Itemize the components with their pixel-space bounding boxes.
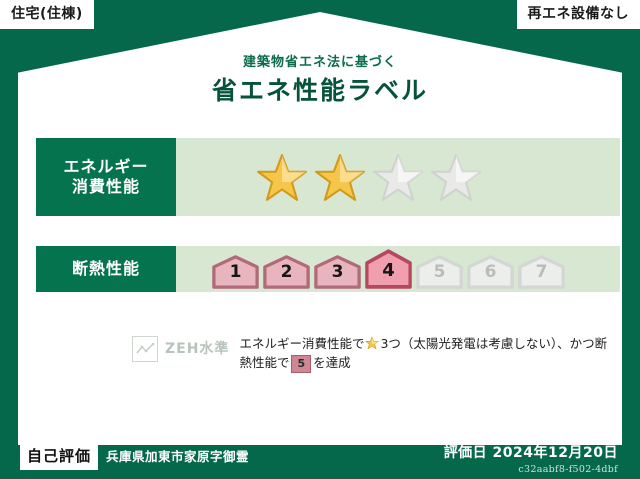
insulation-grade-7: 7 bbox=[518, 255, 565, 289]
insulation-grade-value: 3 bbox=[332, 264, 344, 289]
zeh-mark-label: ZEH水準 bbox=[165, 342, 229, 356]
energy-performance-row: エネルギー 消費性能 bbox=[36, 138, 620, 216]
label-title-block: 建築物省エネ法に基づく 省エネ性能ラベル bbox=[0, 56, 640, 103]
zeh-grade-chip: 5 bbox=[291, 355, 311, 373]
zeh-mark: ZEH水準 bbox=[36, 333, 229, 362]
star-filled-icon bbox=[256, 152, 308, 202]
energy-performance-label: エネルギー 消費性能 bbox=[36, 138, 176, 216]
footer-left-group: 自己評価 兵庫県加東市家原字御霊 bbox=[20, 444, 249, 470]
insulation-grade-scale: 1234567 bbox=[176, 249, 565, 289]
insulation-grade-value: 5 bbox=[434, 264, 446, 289]
energy-rating-body bbox=[176, 138, 620, 216]
insulation-label-text: 断熱性能 bbox=[72, 259, 140, 279]
title-subtitle: 建築物省エネ法に基づく bbox=[0, 56, 640, 69]
star-empty-icon bbox=[372, 152, 424, 202]
footer-right-group: 評価日 2024年12月20日 c32aabf8-f502-4dbf bbox=[444, 446, 618, 475]
insulation-grade-value: 2 bbox=[281, 264, 293, 289]
insulation-grade-6: 6 bbox=[467, 255, 514, 289]
insulation-grade-2: 2 bbox=[263, 255, 310, 289]
zeh-description: エネルギー消費性能で3つ（太陽光発電は考慮しない）、かつ断熱性能で5を達成 bbox=[239, 333, 616, 373]
building-type-tag: 住宅(住棟) bbox=[0, 0, 94, 29]
insulation-grade-value: 4 bbox=[382, 262, 395, 289]
star-rating bbox=[176, 152, 482, 202]
insulation-grade-1: 1 bbox=[212, 255, 259, 289]
zeh-standard-note: ZEH水準 エネルギー消費性能で3つ（太陽光発電は考慮しない）、かつ断熱性能で5… bbox=[36, 333, 616, 373]
insulation-grade-value: 6 bbox=[485, 264, 497, 289]
insulation-grade-value: 1 bbox=[230, 264, 242, 289]
insulation-grade-value: 7 bbox=[536, 264, 548, 289]
insulation-performance-row: 断熱性能 1234567 bbox=[36, 246, 620, 292]
inline-star-icon bbox=[365, 336, 379, 349]
page-title: 省エネ性能ラベル bbox=[0, 78, 640, 103]
star-filled-icon bbox=[314, 152, 366, 202]
zeh-desc-line2-b: を達成 bbox=[313, 355, 351, 370]
insulation-grade-5: 5 bbox=[416, 255, 463, 289]
label-footer: 自己評価 兵庫県加東市家原字御霊 評価日 2024年12月20日 c32aabf… bbox=[0, 435, 640, 479]
energy-label-line2: 消費性能 bbox=[72, 177, 140, 197]
property-address: 兵庫県加東市家原字御霊 bbox=[106, 451, 249, 464]
zeh-house-icon bbox=[132, 336, 158, 362]
insulation-grade-4: 4 bbox=[365, 249, 412, 289]
insulation-rating-body: 1234567 bbox=[176, 246, 620, 292]
document-id: c32aabf8-f502-4dbf bbox=[444, 465, 618, 475]
insulation-grade-3: 3 bbox=[314, 255, 361, 289]
energy-label-line1: エネルギー bbox=[63, 157, 148, 177]
self-evaluation-badge: 自己評価 bbox=[20, 444, 98, 470]
evaluation-date: 評価日 2024年12月20日 bbox=[444, 446, 618, 460]
star-empty-icon bbox=[430, 152, 482, 202]
energy-performance-label: 住宅(住棟) 再エネ設備なし 建築物省エネ法に基づく 省エネ性能ラベル エネルギ… bbox=[0, 0, 640, 479]
renewable-energy-tag: 再エネ設備なし bbox=[517, 0, 640, 29]
insulation-performance-label: 断熱性能 bbox=[36, 246, 176, 292]
zeh-desc-line1-b: 3つ（太陽光発電 bbox=[380, 336, 475, 351]
zeh-desc-line1-a: エネルギー消費性能で bbox=[239, 336, 364, 351]
